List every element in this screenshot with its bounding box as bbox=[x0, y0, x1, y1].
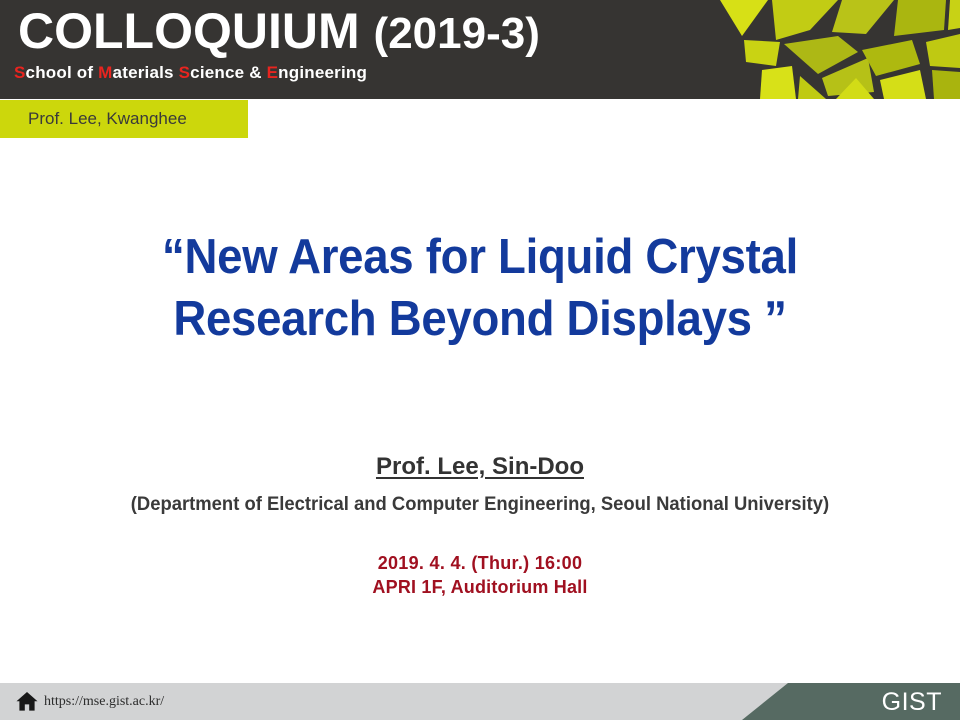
school-name-part-2: M bbox=[98, 63, 112, 82]
talk-title-line-2: Research Beyond Displays ” bbox=[34, 288, 927, 350]
school-name-part-6: E bbox=[267, 63, 279, 82]
footer-url[interactable]: https://mse.gist.ac.kr/ bbox=[44, 692, 164, 712]
school-name-part-0: S bbox=[14, 63, 26, 82]
speaker-name: Prof. Lee, Sin-Doo bbox=[0, 452, 960, 482]
event-datetime: 2019. 4. 4. (Thur.) 16:00 bbox=[0, 551, 960, 576]
school-name-part-7: ngineering bbox=[278, 63, 367, 82]
talk-title: “New Areas for Liquid Crystal Research B… bbox=[34, 226, 927, 350]
colloquium-series: (2019-3) bbox=[374, 9, 540, 58]
home-icon-svg bbox=[16, 691, 38, 712]
poly-facet-4 bbox=[948, 0, 960, 30]
speaker-name-text: Prof. Lee, Sin-Doo bbox=[376, 453, 584, 480]
talk-title-line-1: “New Areas for Liquid Crystal bbox=[34, 226, 927, 288]
colloquium-word: COLLOQUIUM bbox=[18, 3, 360, 59]
poster-footer: https://mse.gist.ac.kr/ GIST bbox=[0, 683, 960, 720]
low-poly-pattern-graphic bbox=[698, 0, 960, 99]
gist-logo-text: GIST bbox=[882, 687, 942, 717]
low-poly-svg bbox=[698, 0, 960, 99]
host-tab: Prof. Lee, Kwanghee bbox=[0, 100, 248, 138]
brand-block: GIST bbox=[650, 683, 960, 720]
school-name-part-1: chool of bbox=[26, 63, 99, 82]
poly-facet-12 bbox=[760, 66, 796, 99]
colloquium-poster: COLLOQUIUM (2019-3) School of Materials … bbox=[0, 0, 960, 720]
speaker-affiliation: (Department of Electrical and Computer E… bbox=[14, 492, 945, 518]
poly-facet-11 bbox=[932, 70, 960, 99]
school-name: School of Materials Science & Engineerin… bbox=[14, 62, 367, 84]
home-icon bbox=[16, 691, 38, 712]
school-name-part-3: aterials bbox=[113, 63, 179, 82]
poster-header: COLLOQUIUM (2019-3) School of Materials … bbox=[0, 0, 960, 99]
poly-facet-3 bbox=[894, 0, 946, 36]
host-name-label: Prof. Lee, Kwanghee bbox=[28, 108, 187, 130]
event-venue: APRI 1F, Auditorium Hall bbox=[0, 575, 960, 600]
poly-facet-5 bbox=[744, 40, 780, 66]
page-title: COLLOQUIUM (2019-3) bbox=[18, 2, 540, 63]
school-name-part-5: cience & bbox=[190, 63, 266, 82]
school-name-part-4: S bbox=[179, 63, 191, 82]
